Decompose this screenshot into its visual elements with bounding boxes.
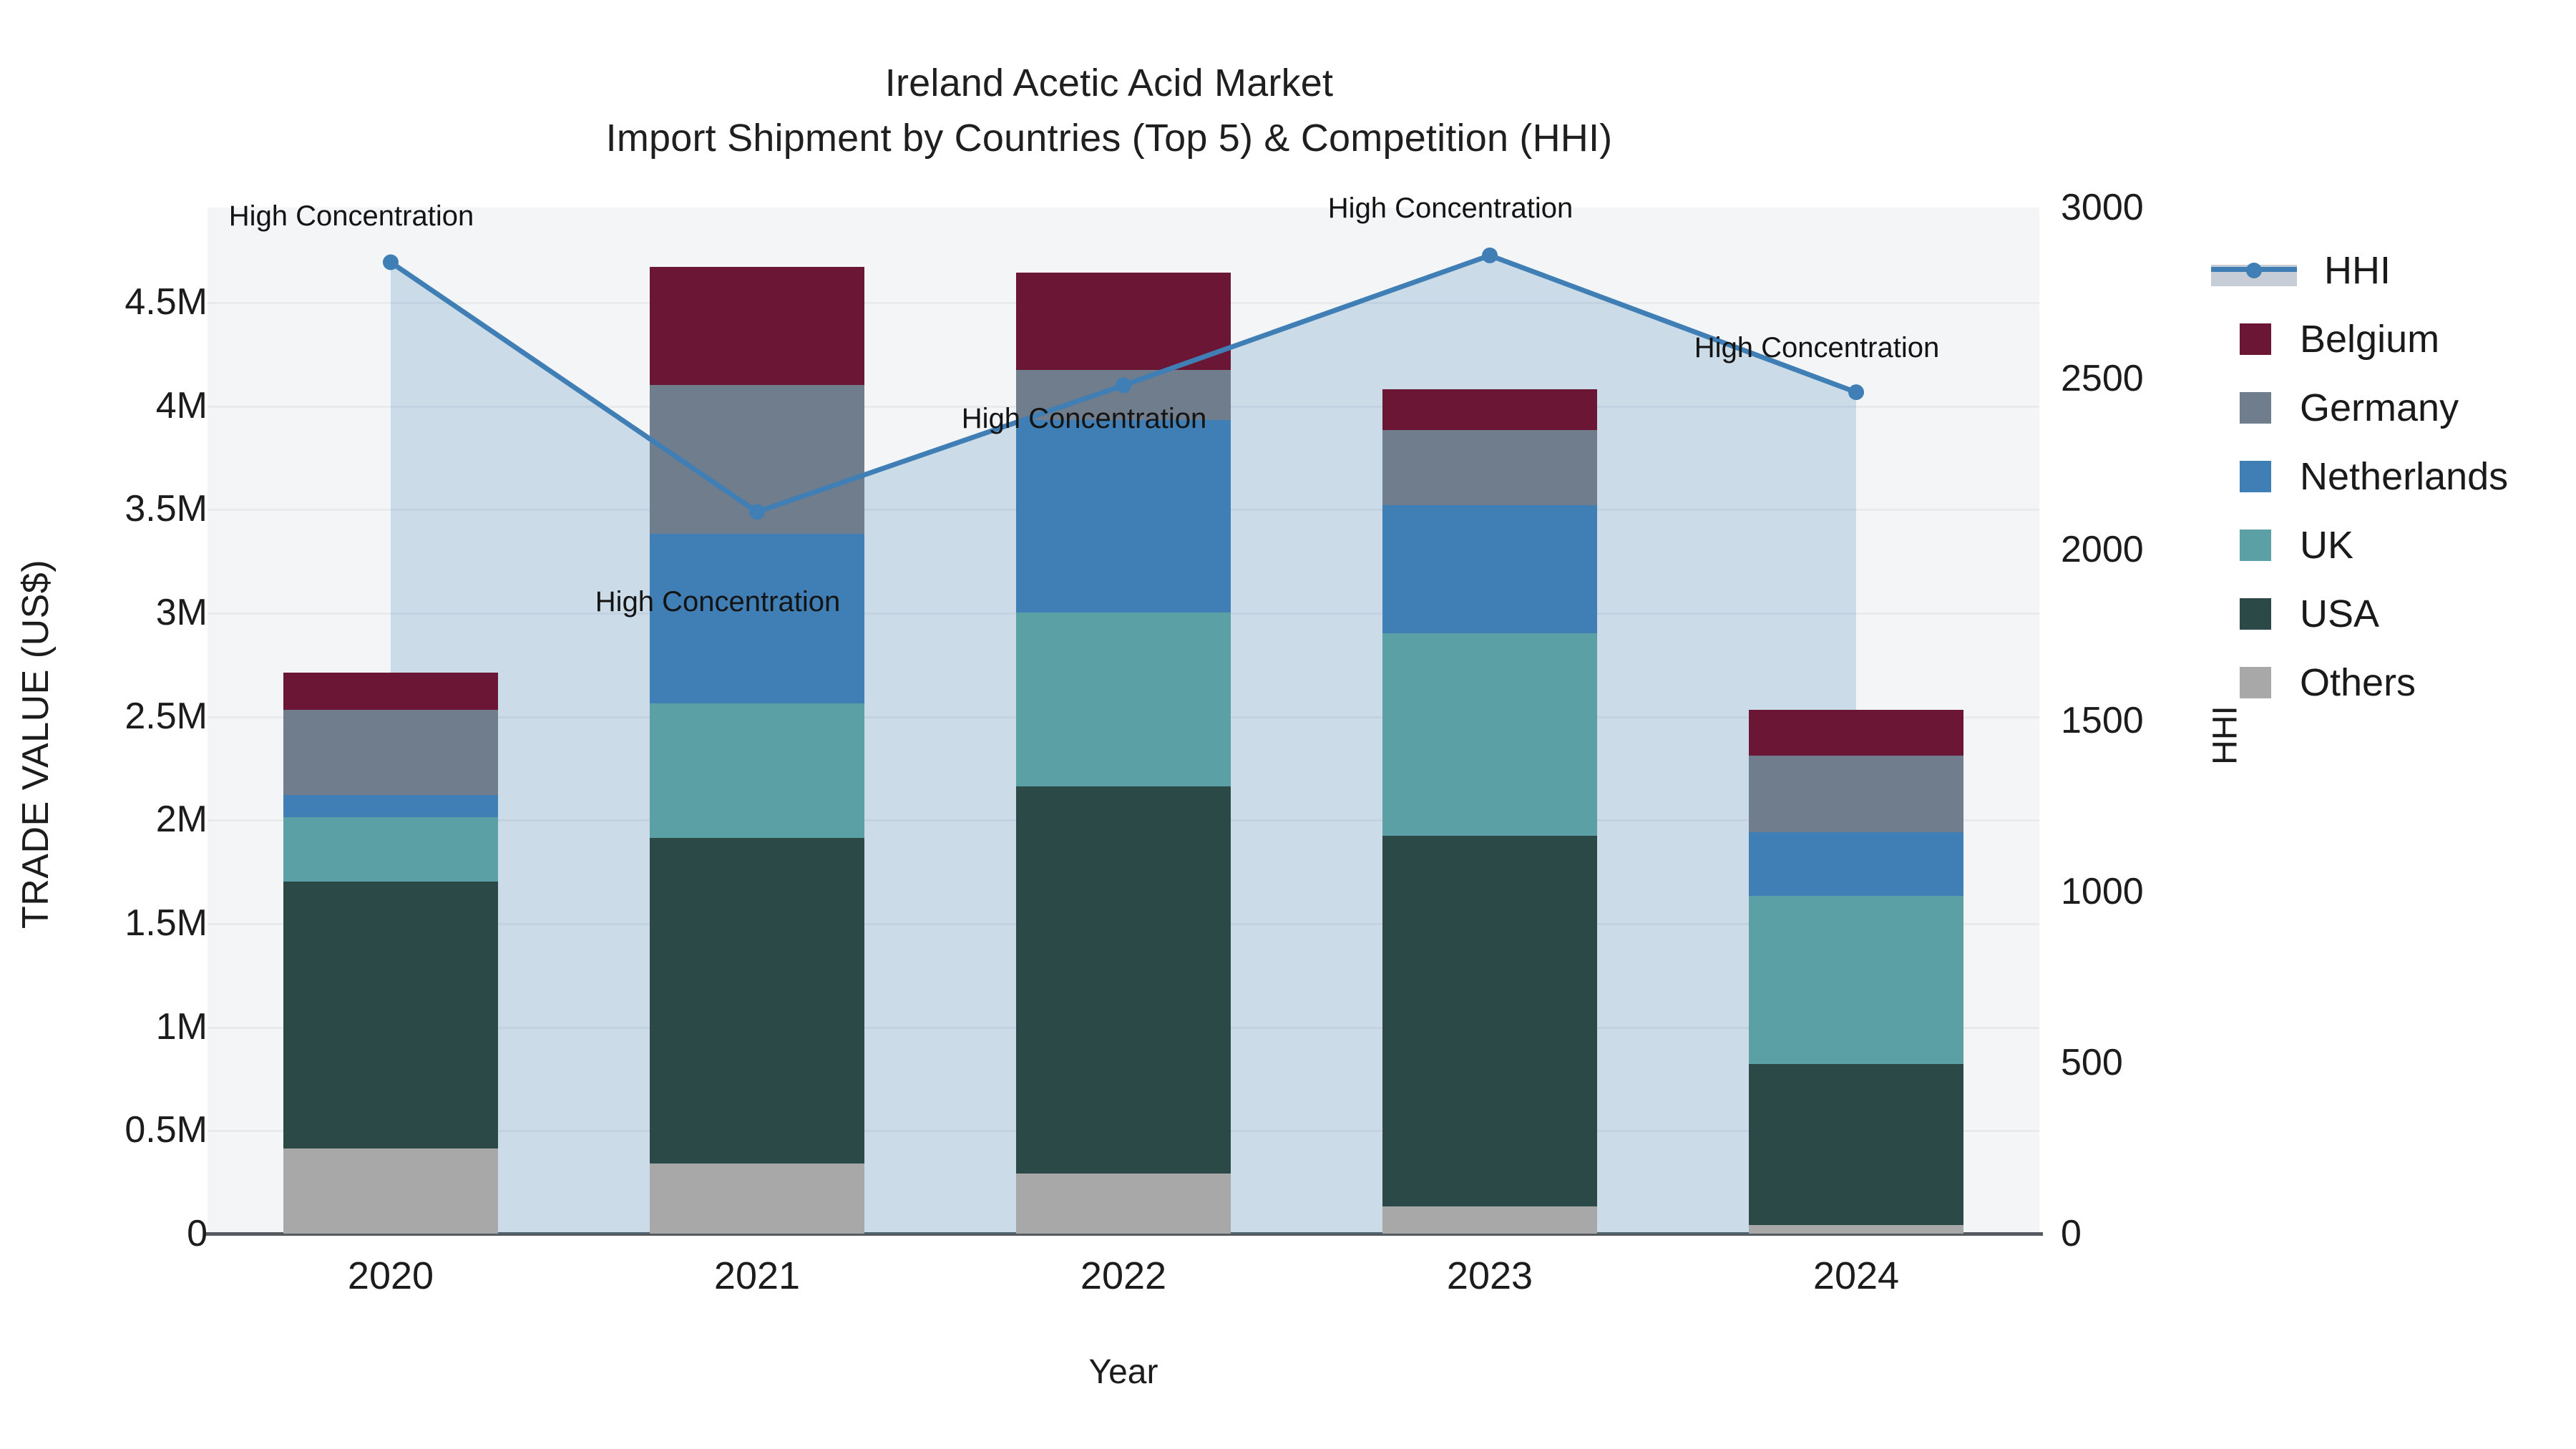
x-axis-title: Year [208, 1352, 2039, 1392]
legend-label: USA [2300, 595, 2379, 633]
bar-segment-others[interactable] [650, 1163, 864, 1234]
x-axis-tick-label: 2020 [262, 1254, 519, 1298]
bar-segment-netherlands[interactable] [283, 795, 498, 818]
legend-swatch [2240, 392, 2271, 424]
x-axis-tick-label: 2021 [628, 1254, 886, 1298]
bar-segment-germany[interactable] [283, 710, 498, 795]
legend-item-germany[interactable]: Germany [2211, 374, 2508, 442]
legend-label: Others [2300, 663, 2416, 702]
bar-segment-belgium[interactable] [650, 267, 864, 385]
annotation-high-concentration: High Concentration [1328, 192, 1573, 225]
bar-segment-belgium[interactable] [283, 673, 498, 710]
bar-segment-usa[interactable] [1749, 1064, 1963, 1226]
bar-segment-netherlands[interactable] [650, 534, 864, 703]
y-axis-title: TRADE VALUE (US$) [14, 494, 57, 995]
chart-legend: HHIBelgiumGermanyNetherlandsUKUSAOthers [2211, 236, 2508, 717]
chart-root: Ireland Acetic Acid Market Import Shipme… [0, 0, 2576, 1449]
bar-segment-usa[interactable] [283, 882, 498, 1148]
bar-segment-germany[interactable] [650, 385, 864, 534]
bar-segment-uk[interactable] [650, 703, 864, 838]
bar-segment-others[interactable] [1749, 1225, 1963, 1234]
bar-segment-others[interactable] [1016, 1174, 1231, 1234]
legend-item-usa[interactable]: USA [2211, 580, 2508, 648]
bar-segment-germany[interactable] [1382, 430, 1597, 504]
x-axis-tick-label: 2023 [1361, 1254, 1619, 1298]
bar-segment-germany[interactable] [1749, 756, 1963, 832]
bar-segment-others[interactable] [1382, 1206, 1597, 1234]
legend-label: UK [2300, 526, 2353, 565]
bar-segment-belgium[interactable] [1749, 710, 1963, 756]
bar-segment-uk[interactable] [1749, 896, 1963, 1063]
x-axis-tick-label: 2024 [1727, 1254, 1985, 1298]
legend-item-uk[interactable]: UK [2211, 511, 2508, 580]
bar-segment-netherlands[interactable] [1016, 420, 1231, 613]
legend-label: Netherlands [2300, 457, 2508, 496]
bar-segment-usa[interactable] [1016, 786, 1231, 1174]
legend-item-hhi[interactable]: HHI [2211, 236, 2508, 305]
annotation-high-concentration: High Concentration [1694, 332, 1939, 364]
legend-swatch [2240, 598, 2271, 630]
x-axis-tick-label: 2022 [995, 1254, 1252, 1298]
bar-segment-belgium[interactable] [1382, 389, 1597, 431]
bar-segment-usa[interactable] [1382, 836, 1597, 1206]
legend-label: Germany [2300, 389, 2459, 427]
annotation-high-concentration: High Concentration [595, 586, 840, 618]
legend-swatch [2240, 667, 2271, 698]
legend-item-belgium[interactable]: Belgium [2211, 305, 2508, 374]
bar-segment-netherlands[interactable] [1749, 832, 1963, 897]
annotation-high-concentration: High Concentration [229, 200, 474, 233]
legend-item-netherlands[interactable]: Netherlands [2211, 442, 2508, 511]
legend-item-others[interactable]: Others [2211, 648, 2508, 717]
legend-swatch [2240, 530, 2271, 561]
bar-segment-uk[interactable] [1016, 613, 1231, 786]
annotation-high-concentration: High Concentration [962, 403, 1206, 435]
bar-segment-belgium[interactable] [1016, 273, 1231, 370]
bar-segment-others[interactable] [283, 1148, 498, 1234]
legend-swatch [2240, 461, 2271, 492]
legend-line-marker [2211, 255, 2297, 286]
legend-label: HHI [2324, 251, 2391, 290]
legend-label: Belgium [2300, 320, 2439, 358]
bar-segment-uk[interactable] [283, 817, 498, 882]
legend-swatch [2240, 323, 2271, 355]
chart-overlay: 00.5M1M1.5M2M2.5M3M3.5M4M4.5M05001000150… [0, 0, 2576, 1449]
bar-segment-uk[interactable] [1382, 633, 1597, 836]
bar-segment-netherlands[interactable] [1382, 505, 1597, 633]
bar-segment-usa[interactable] [650, 838, 864, 1163]
